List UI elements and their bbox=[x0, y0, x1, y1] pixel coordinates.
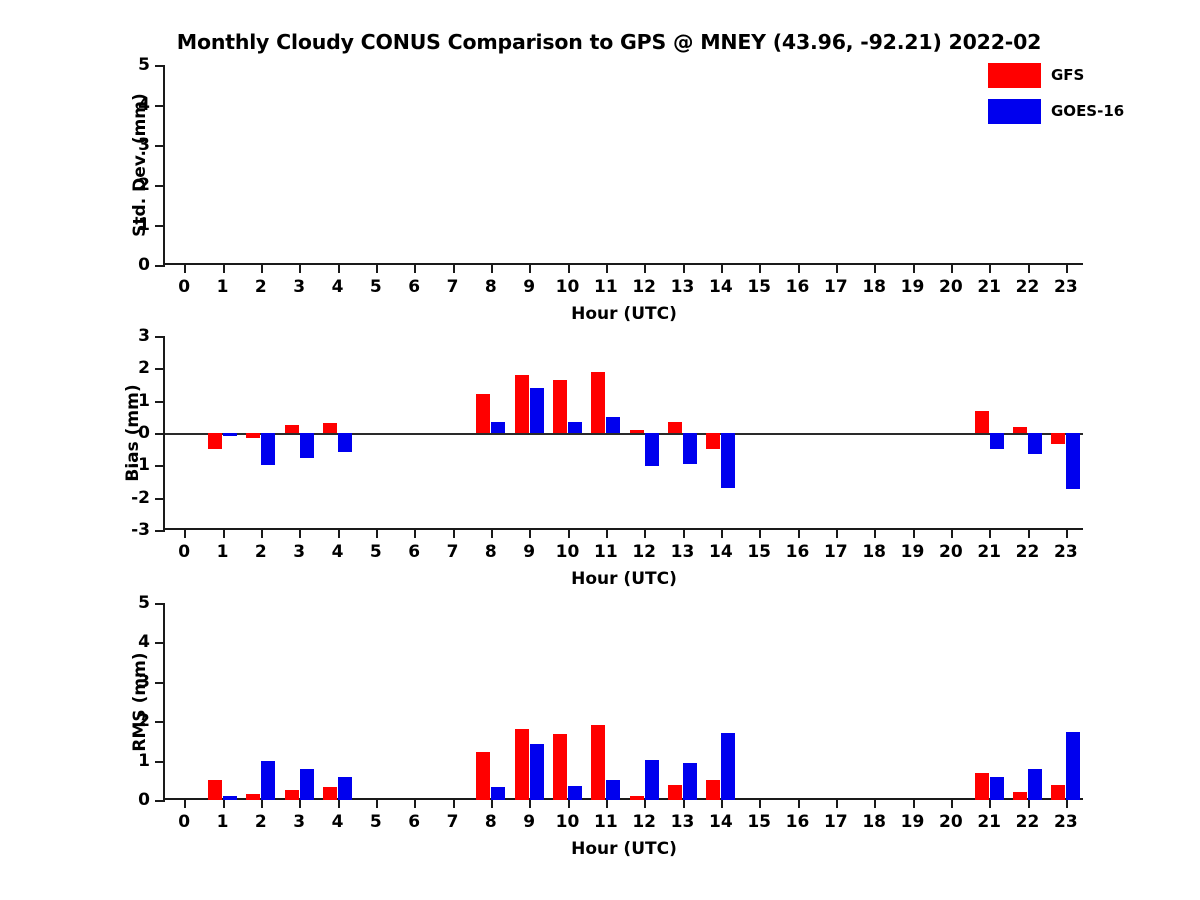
xtick-label-stddev-2: 2 bbox=[255, 277, 267, 297]
bar-bias-goes16-h8 bbox=[491, 422, 505, 433]
xtick-label-rms-0: 0 bbox=[178, 812, 190, 832]
xtick-label-bias-22: 22 bbox=[1016, 542, 1040, 562]
xtick-label-stddev-7: 7 bbox=[447, 277, 459, 297]
xtick-label-stddev-13: 13 bbox=[671, 277, 695, 297]
xtick-rms-19 bbox=[913, 798, 915, 808]
xtick-label-rms-4: 4 bbox=[332, 812, 344, 832]
xtick-label-rms-13: 13 bbox=[671, 812, 695, 832]
bar-rms-goes16-h11 bbox=[606, 780, 620, 800]
xtick-stddev-19 bbox=[913, 263, 915, 273]
xtick-label-stddev-1: 1 bbox=[217, 277, 229, 297]
xtick-stddev-5 bbox=[376, 263, 378, 273]
xtick-label-rms-21: 21 bbox=[977, 812, 1001, 832]
bar-bias-gfs-h3 bbox=[285, 425, 299, 433]
xtick-bias-5 bbox=[376, 528, 378, 538]
xtick-bias-9 bbox=[529, 528, 531, 538]
xtick-stddev-20 bbox=[951, 263, 953, 273]
ytick-rms-1 bbox=[155, 761, 165, 763]
xtick-stddev-9 bbox=[529, 263, 531, 273]
xtick-bias-11 bbox=[606, 528, 608, 538]
xtick-bias-17 bbox=[836, 528, 838, 538]
bar-rms-goes16-h22 bbox=[1028, 769, 1042, 800]
xtick-rms-18 bbox=[874, 798, 876, 808]
xtick-label-rms-2: 2 bbox=[255, 812, 267, 832]
xtick-label-bias-7: 7 bbox=[447, 542, 459, 562]
xtick-label-bias-16: 16 bbox=[786, 542, 810, 562]
xtick-label-rms-19: 19 bbox=[901, 812, 925, 832]
xtick-bias-18 bbox=[874, 528, 876, 538]
ytick-bias-3 bbox=[155, 433, 165, 435]
bar-rms-gfs-h22 bbox=[1013, 792, 1027, 800]
bar-bias-goes16-h11 bbox=[606, 417, 620, 433]
bar-bias-goes16-h9 bbox=[530, 388, 544, 433]
xtick-bias-12 bbox=[644, 528, 646, 538]
xtick-label-stddev-5: 5 bbox=[370, 277, 382, 297]
xtick-label-stddev-9: 9 bbox=[523, 277, 535, 297]
ytick-bias-0 bbox=[155, 530, 165, 532]
xtick-label-bias-12: 12 bbox=[632, 542, 656, 562]
bar-rms-goes16-h21 bbox=[990, 777, 1004, 800]
bar-bias-gfs-h13 bbox=[668, 422, 682, 433]
plot-area-bias: -3-2-10123Bias (mm)012345678910111213141… bbox=[163, 336, 1083, 530]
ytick-bias-1 bbox=[155, 498, 165, 500]
xtick-bias-2 bbox=[261, 528, 263, 538]
plot-area-rms: 012345RMS (mm)01234567891011121314151617… bbox=[163, 603, 1083, 800]
xtick-bias-20 bbox=[951, 528, 953, 538]
ytick-bias-2 bbox=[155, 465, 165, 467]
ytick-stddev-2 bbox=[155, 185, 165, 187]
ytick-stddev-5 bbox=[155, 65, 165, 67]
xtick-label-rms-11: 11 bbox=[594, 812, 618, 832]
bar-bias-goes16-h23 bbox=[1066, 433, 1080, 489]
xtick-stddev-10 bbox=[568, 263, 570, 273]
bar-rms-goes16-h2 bbox=[261, 761, 275, 800]
xtick-label-rms-15: 15 bbox=[747, 812, 771, 832]
bar-bias-gfs-h8 bbox=[476, 394, 490, 433]
xtick-label-stddev-3: 3 bbox=[293, 277, 305, 297]
xtick-bias-13 bbox=[683, 528, 685, 538]
xtick-stddev-13 bbox=[683, 263, 685, 273]
xtick-label-stddev-18: 18 bbox=[862, 277, 886, 297]
bar-bias-gfs-h2 bbox=[246, 433, 260, 438]
bar-rms-gfs-h21 bbox=[975, 773, 989, 800]
xtick-label-stddev-8: 8 bbox=[485, 277, 497, 297]
xtick-stddev-21 bbox=[989, 263, 991, 273]
xtick-label-rms-12: 12 bbox=[632, 812, 656, 832]
xtick-bias-15 bbox=[759, 528, 761, 538]
ylabel-stddev: Std. Dev. (mm) bbox=[130, 65, 150, 265]
xtick-label-stddev-23: 23 bbox=[1054, 277, 1078, 297]
xtick-stddev-16 bbox=[798, 263, 800, 273]
xtick-label-rms-10: 10 bbox=[556, 812, 580, 832]
xtick-bias-22 bbox=[1028, 528, 1030, 538]
bar-bias-gfs-h21 bbox=[975, 411, 989, 433]
bar-rms-goes16-h8 bbox=[491, 787, 505, 800]
bar-bias-goes16-h4 bbox=[338, 433, 352, 452]
xtick-stddev-1 bbox=[223, 263, 225, 273]
xtick-label-rms-18: 18 bbox=[862, 812, 886, 832]
xtick-bias-1 bbox=[223, 528, 225, 538]
xtick-label-stddev-17: 17 bbox=[824, 277, 848, 297]
xtick-rms-0 bbox=[184, 798, 186, 808]
ytick-stddev-0 bbox=[155, 265, 165, 267]
ylabel-rms: RMS (mm) bbox=[130, 603, 150, 800]
xtick-label-stddev-20: 20 bbox=[939, 277, 963, 297]
xtick-stddev-18 bbox=[874, 263, 876, 273]
xtick-label-rms-20: 20 bbox=[939, 812, 963, 832]
xtick-label-bias-1: 1 bbox=[217, 542, 229, 562]
bar-rms-gfs-h14 bbox=[706, 780, 720, 800]
xtick-stddev-15 bbox=[759, 263, 761, 273]
xtick-label-rms-6: 6 bbox=[408, 812, 420, 832]
figure-root: Monthly Cloudy CONUS Comparison to GPS @… bbox=[0, 0, 1200, 900]
xlabel-bias: Hour (UTC) bbox=[165, 569, 1083, 589]
xtick-label-bias-4: 4 bbox=[332, 542, 344, 562]
xtick-stddev-17 bbox=[836, 263, 838, 273]
xtick-label-rms-5: 5 bbox=[370, 812, 382, 832]
bar-rms-gfs-h8 bbox=[476, 752, 490, 800]
xtick-stddev-8 bbox=[491, 263, 493, 273]
xtick-label-bias-15: 15 bbox=[747, 542, 771, 562]
bar-rms-goes16-h14 bbox=[721, 733, 735, 800]
xtick-label-stddev-19: 19 bbox=[901, 277, 925, 297]
xtick-label-rms-14: 14 bbox=[709, 812, 733, 832]
xtick-label-bias-19: 19 bbox=[901, 542, 925, 562]
xlabel-rms: Hour (UTC) bbox=[165, 839, 1083, 859]
xtick-rms-5 bbox=[376, 798, 378, 808]
xtick-bias-19 bbox=[913, 528, 915, 538]
xtick-stddev-22 bbox=[1028, 263, 1030, 273]
bar-rms-goes16-h3 bbox=[300, 769, 314, 800]
bar-bias-gfs-h9 bbox=[515, 375, 529, 433]
bar-bias-gfs-h11 bbox=[591, 372, 605, 433]
bar-rms-goes16-h12 bbox=[645, 760, 659, 800]
bar-bias-gfs-h4 bbox=[323, 423, 337, 433]
xtick-label-bias-14: 14 bbox=[709, 542, 733, 562]
bar-bias-gfs-h1 bbox=[208, 433, 222, 449]
xtick-stddev-7 bbox=[453, 263, 455, 273]
bar-bias-gfs-h12 bbox=[630, 430, 644, 433]
xtick-label-rms-17: 17 bbox=[824, 812, 848, 832]
bar-bias-goes16-h14 bbox=[721, 433, 735, 488]
figure-title: Monthly Cloudy CONUS Comparison to GPS @… bbox=[0, 30, 1200, 54]
bar-rms-goes16-h23 bbox=[1066, 732, 1080, 800]
xtick-bias-16 bbox=[798, 528, 800, 538]
xtick-label-stddev-10: 10 bbox=[556, 277, 580, 297]
xtick-label-rms-8: 8 bbox=[485, 812, 497, 832]
xtick-label-stddev-22: 22 bbox=[1016, 277, 1040, 297]
bar-rms-gfs-h9 bbox=[515, 729, 529, 800]
bar-bias-gfs-h23 bbox=[1051, 433, 1065, 444]
xtick-stddev-12 bbox=[644, 263, 646, 273]
xtick-label-stddev-16: 16 bbox=[786, 277, 810, 297]
xtick-rms-7 bbox=[453, 798, 455, 808]
xtick-label-bias-17: 17 bbox=[824, 542, 848, 562]
xtick-label-stddev-4: 4 bbox=[332, 277, 344, 297]
xtick-bias-4 bbox=[338, 528, 340, 538]
bar-rms-gfs-h11 bbox=[591, 725, 605, 800]
xtick-bias-8 bbox=[491, 528, 493, 538]
xtick-label-rms-23: 23 bbox=[1054, 812, 1078, 832]
xtick-label-rms-22: 22 bbox=[1016, 812, 1040, 832]
ytick-rms-2 bbox=[155, 721, 165, 723]
xtick-label-bias-18: 18 bbox=[862, 542, 886, 562]
xtick-label-rms-9: 9 bbox=[523, 812, 535, 832]
bar-rms-gfs-h3 bbox=[285, 790, 299, 800]
xtick-rms-6 bbox=[414, 798, 416, 808]
bar-rms-gfs-h1 bbox=[208, 780, 222, 800]
xtick-label-bias-0: 0 bbox=[178, 542, 190, 562]
bar-bias-goes16-h3 bbox=[300, 433, 314, 458]
xtick-label-bias-3: 3 bbox=[293, 542, 305, 562]
xtick-bias-23 bbox=[1066, 528, 1068, 538]
bar-bias-gfs-h10 bbox=[553, 380, 567, 433]
xtick-stddev-6 bbox=[414, 263, 416, 273]
bar-rms-goes16-h13 bbox=[683, 763, 697, 800]
ytick-bias-4 bbox=[155, 401, 165, 403]
xtick-label-stddev-6: 6 bbox=[408, 277, 420, 297]
xtick-label-stddev-14: 14 bbox=[709, 277, 733, 297]
xtick-label-rms-7: 7 bbox=[447, 812, 459, 832]
xtick-stddev-0 bbox=[184, 263, 186, 273]
xlabel-std-dev: Hour (UTC) bbox=[165, 304, 1083, 324]
xtick-bias-3 bbox=[299, 528, 301, 538]
ytick-rms-3 bbox=[155, 682, 165, 684]
bar-rms-gfs-h13 bbox=[668, 785, 682, 800]
bar-bias-gfs-h14 bbox=[706, 433, 720, 449]
xtick-stddev-14 bbox=[721, 263, 723, 273]
xtick-rms-17 bbox=[836, 798, 838, 808]
xtick-bias-21 bbox=[989, 528, 991, 538]
bar-bias-goes16-h2 bbox=[261, 433, 275, 465]
bar-rms-gfs-h2 bbox=[246, 794, 260, 800]
ytick-stddev-3 bbox=[155, 145, 165, 147]
ytick-stddev-4 bbox=[155, 105, 165, 107]
bar-bias-goes16-h1 bbox=[223, 433, 237, 436]
bar-bias-goes16-h22 bbox=[1028, 433, 1042, 454]
xtick-bias-6 bbox=[414, 528, 416, 538]
ytick-rms-0 bbox=[155, 800, 165, 802]
bar-rms-goes16-h9 bbox=[530, 744, 544, 800]
xtick-bias-0 bbox=[184, 528, 186, 538]
bar-bias-goes16-h13 bbox=[683, 433, 697, 464]
bar-bias-goes16-h12 bbox=[645, 433, 659, 466]
bar-rms-gfs-h12 bbox=[630, 796, 644, 800]
bar-rms-gfs-h4 bbox=[323, 787, 337, 800]
bar-rms-gfs-h23 bbox=[1051, 785, 1065, 800]
xtick-label-rms-3: 3 bbox=[293, 812, 305, 832]
xtick-label-bias-5: 5 bbox=[370, 542, 382, 562]
ytick-bias-6 bbox=[155, 336, 165, 338]
xtick-label-bias-23: 23 bbox=[1054, 542, 1078, 562]
xtick-label-bias-21: 21 bbox=[977, 542, 1001, 562]
xtick-rms-16 bbox=[798, 798, 800, 808]
bar-bias-goes16-h10 bbox=[568, 422, 582, 433]
xtick-label-bias-9: 9 bbox=[523, 542, 535, 562]
xtick-stddev-23 bbox=[1066, 263, 1068, 273]
xtick-label-bias-6: 6 bbox=[408, 542, 420, 562]
xtick-rms-15 bbox=[759, 798, 761, 808]
bar-rms-gfs-h10 bbox=[553, 734, 567, 800]
xtick-label-bias-13: 13 bbox=[671, 542, 695, 562]
ylabel-bias: Bias (mm) bbox=[123, 336, 143, 530]
xtick-stddev-4 bbox=[338, 263, 340, 273]
ytick-bias-5 bbox=[155, 368, 165, 370]
bar-bias-goes16-h21 bbox=[990, 433, 1004, 449]
bar-rms-goes16-h1 bbox=[223, 796, 237, 800]
xtick-label-bias-2: 2 bbox=[255, 542, 267, 562]
xtick-label-rms-1: 1 bbox=[217, 812, 229, 832]
plot-area-std-dev: 012345Std. Dev. (mm)01234567891011121314… bbox=[163, 65, 1083, 265]
xtick-bias-7 bbox=[453, 528, 455, 538]
bar-rms-goes16-h4 bbox=[338, 777, 352, 800]
ytick-stddev-1 bbox=[155, 225, 165, 227]
bar-rms-goes16-h10 bbox=[568, 786, 582, 800]
xtick-label-stddev-11: 11 bbox=[594, 277, 618, 297]
xtick-label-bias-8: 8 bbox=[485, 542, 497, 562]
xtick-rms-20 bbox=[951, 798, 953, 808]
xtick-stddev-11 bbox=[606, 263, 608, 273]
xtick-label-bias-11: 11 bbox=[594, 542, 618, 562]
ytick-rms-5 bbox=[155, 603, 165, 605]
bar-bias-gfs-h22 bbox=[1013, 427, 1027, 433]
xtick-label-stddev-12: 12 bbox=[632, 277, 656, 297]
xtick-label-stddev-15: 15 bbox=[747, 277, 771, 297]
xtick-label-stddev-21: 21 bbox=[977, 277, 1001, 297]
xtick-stddev-2 bbox=[261, 263, 263, 273]
xtick-bias-10 bbox=[568, 528, 570, 538]
xtick-label-rms-16: 16 bbox=[786, 812, 810, 832]
xtick-label-bias-10: 10 bbox=[556, 542, 580, 562]
xtick-bias-14 bbox=[721, 528, 723, 538]
xtick-label-bias-20: 20 bbox=[939, 542, 963, 562]
xtick-label-stddev-0: 0 bbox=[178, 277, 190, 297]
xtick-stddev-3 bbox=[299, 263, 301, 273]
ytick-rms-4 bbox=[155, 642, 165, 644]
